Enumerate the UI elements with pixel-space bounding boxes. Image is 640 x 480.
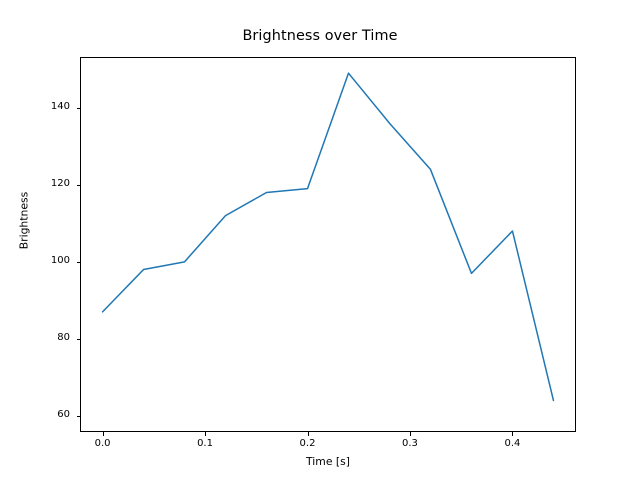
plot-area [80,57,576,432]
y-tick-mark [77,416,81,417]
page-title: Brightness over Time [0,28,640,44]
y-tick-label: 120 [0,178,70,189]
y-axis-label: Brightness [18,121,31,321]
y-tick-mark [77,262,81,263]
x-tick-mark [410,432,411,436]
x-tick-mark [205,432,206,436]
y-tick-mark [77,185,81,186]
y-tick-label: 140 [0,101,70,112]
x-tick-label: 0.2 [278,438,338,449]
x-axis-label: Time [s] [80,455,576,468]
line-series-svg [80,57,576,432]
y-tick-mark [77,339,81,340]
y-tick-label: 60 [0,409,70,420]
matplotlib-figure: Brightness over Time 0.00.10.20.30.4 608… [0,0,640,480]
x-tick-label: 0.0 [73,438,133,449]
x-tick-mark [512,432,513,436]
y-tick-mark [77,108,81,109]
x-tick-label: 0.1 [175,438,235,449]
x-tick-label: 0.4 [482,438,542,449]
x-tick-label: 0.3 [380,438,440,449]
y-tick-label: 80 [0,332,70,343]
x-tick-mark [103,432,104,436]
y-tick-label: 100 [0,255,70,266]
x-tick-mark [308,432,309,436]
data-line-brightness [103,73,554,400]
